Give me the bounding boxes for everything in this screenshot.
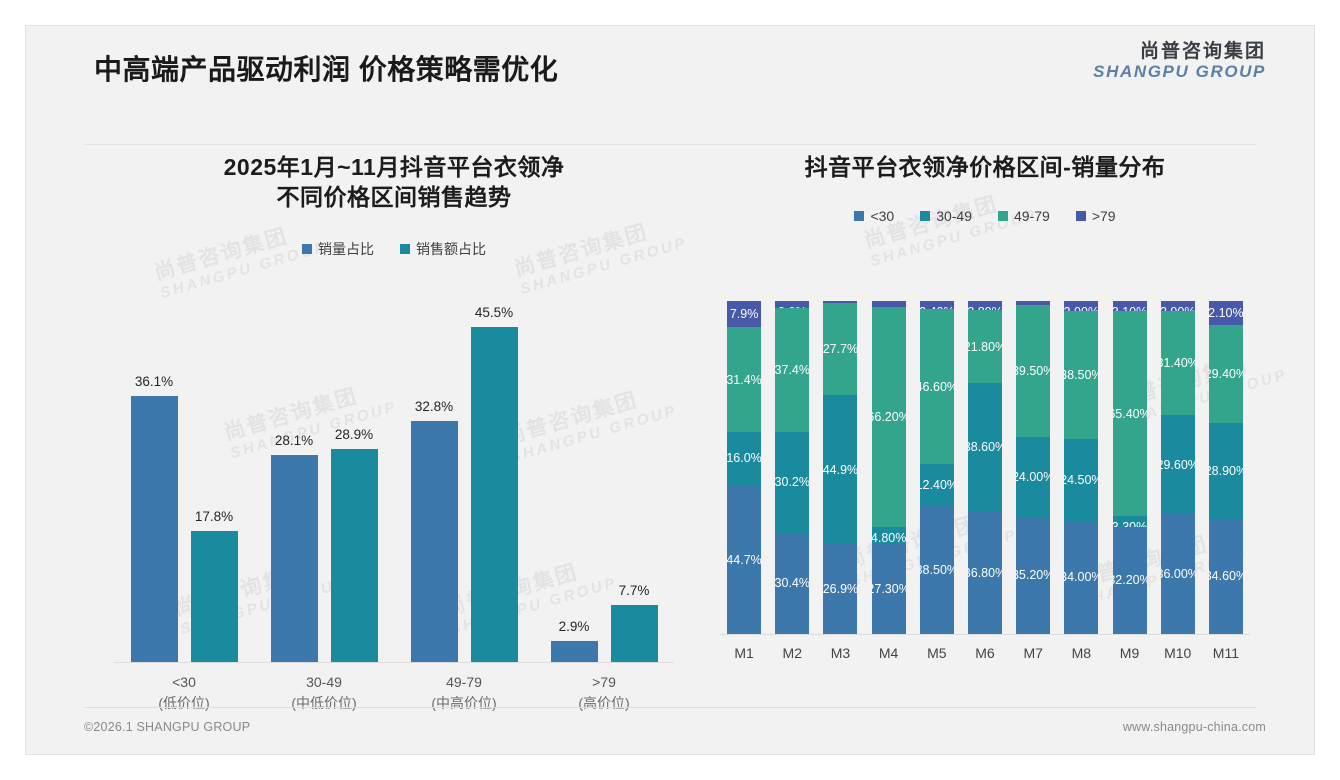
stack-segment-value-label: 66.20%: [872, 410, 906, 424]
stack-segment-value-label: 30.2%: [775, 475, 809, 489]
stack-segment-49to79[interactable]: 21.80%: [968, 310, 1002, 383]
stacked-bar-column[interactable]: 7.9%31.4%16.0%44.7%: [727, 301, 761, 634]
stack-segment-value-label: 29.40%: [1209, 367, 1243, 381]
stack-segment-30[interactable]: 36.00%: [1161, 514, 1195, 634]
x-axis-month-label: M9: [1113, 645, 1147, 661]
right-chart-panel: 抖音平台衣领净价格区间-销量分布 <3030-4949-79>79 7.9%31…: [714, 152, 1256, 712]
left-chart-legend-item[interactable]: 销量占比: [302, 239, 374, 259]
stack-segment-value-label: 44.9%: [823, 463, 857, 477]
stack-segment-79[interactable]: 3.00%: [1064, 301, 1098, 311]
x-axis-month-label: M6: [968, 645, 1002, 661]
x-axis-month-label: M4: [872, 645, 906, 661]
left-chart-title: 2025年1月~11月抖音平台衣领净 不同价格区间销售趋势: [84, 152, 704, 213]
stack-segment-value-label: 32.20%: [1113, 573, 1147, 587]
stack-segment-value-label: 35.20%: [1016, 568, 1050, 582]
left-chart-panel: 2025年1月~11月抖音平台衣领净 不同价格区间销售趋势 销量占比销售额占比 …: [84, 152, 704, 712]
stack-segment-79[interactable]: 2.0%: [775, 301, 809, 308]
bar-value-label: 32.8%: [415, 399, 453, 414]
stacked-bar-column[interactable]: 3.00%38.50%24.50%34.00%: [1064, 301, 1098, 634]
bar-sales-volume[interactable]: 2.9%: [551, 641, 598, 662]
bar-fill: [331, 449, 378, 662]
bar-fill: [611, 605, 658, 662]
stack-segment-value-label: 27.30%: [872, 582, 906, 596]
stack-segment-value-label: 37.4%: [775, 363, 809, 377]
stack-segment-49to79[interactable]: 29.40%: [1209, 325, 1243, 423]
stack-segment-value-label: 24.00%: [1016, 470, 1050, 484]
stack-segment-30to49[interactable]: 30.2%: [775, 432, 809, 533]
bar-group: 36.1%17.8%<30(低价位): [114, 294, 254, 662]
x-axis-month-label: M8: [1064, 645, 1098, 661]
category-name: >79: [592, 674, 616, 690]
category-name: <30: [172, 674, 196, 690]
stacked-bar-column[interactable]: 2.40%46.60%12.40%38.50%: [920, 301, 954, 634]
brand-logo: 尚普咨询集团 SHANGPU GROUP: [1093, 42, 1266, 81]
stack-segment-value-label: 3.30%: [1113, 520, 1147, 527]
stacked-bar-chart: 7.9%31.4%16.0%44.7%M12.0%37.4%30.2%30.4%…: [720, 288, 1250, 663]
stack-segment-value-label: 16.0%: [727, 451, 761, 465]
bar-fill: [471, 327, 518, 662]
bar-fill: [191, 531, 238, 662]
legend-label: 49-79: [1014, 208, 1050, 224]
legend-swatch-icon: [400, 244, 410, 254]
stack-segment-79[interactable]: 7.9%: [727, 301, 761, 327]
stack-segment-49to79[interactable]: 38.50%: [1064, 311, 1098, 439]
stack-segment-30to49[interactable]: 4.80%: [872, 527, 906, 543]
logo-english-text: SHANGPU GROUP: [1093, 63, 1266, 81]
stack-segment-value-label: 65.40%: [1113, 407, 1147, 421]
bar-sales-amount[interactable]: 17.8%: [191, 531, 238, 662]
stack-segment-49to79[interactable]: 39.50%: [1016, 305, 1050, 437]
stack-segment-30[interactable]: 30.4%: [775, 533, 809, 634]
stack-segment-value-label: 34.60%: [1209, 569, 1243, 583]
grouped-bar-chart: 36.1%17.8%<30(低价位)28.1%28.9%30-49(中低价位)3…: [114, 288, 674, 663]
stack-segment-30[interactable]: 34.00%: [1064, 521, 1098, 634]
x-axis-month-label: M10: [1161, 645, 1195, 661]
stack-segment-30[interactable]: 34.60%: [1209, 519, 1243, 634]
right-chart-legend-item[interactable]: <30: [854, 208, 894, 224]
bar-value-label: 45.5%: [475, 305, 513, 320]
stack-segment-49to79[interactable]: 46.60%: [920, 309, 954, 464]
stack-segment-30to49[interactable]: 12.40%: [920, 464, 954, 505]
left-chart-legend-item[interactable]: 销售额占比: [400, 239, 486, 259]
left-chart-title-line1: 2025年1月~11月抖音平台衣领净: [84, 152, 704, 182]
bar-sales-volume[interactable]: 36.1%: [131, 396, 178, 662]
legend-label: 销量占比: [318, 239, 374, 259]
stacked-bar-column[interactable]: 2.10%29.40%28.90%34.60%: [1209, 301, 1243, 634]
bar-fill: [271, 455, 318, 662]
bar-value-label: 36.1%: [135, 374, 173, 389]
legend-label: 销售额占比: [416, 239, 486, 259]
stack-segment-value-label: 38.50%: [1064, 368, 1098, 382]
bar-fill: [551, 641, 598, 662]
stack-segment-30to49[interactable]: 29.60%: [1161, 415, 1195, 514]
left-chart-title-line2: 不同价格区间销售趋势: [84, 182, 704, 212]
stack-segment-value-label: 29.60%: [1161, 458, 1195, 472]
stack-segment-value-label: 39.50%: [1016, 364, 1050, 378]
category-name: 30-49: [306, 674, 342, 690]
x-axis-line: [720, 634, 1250, 635]
bar-fill: [411, 421, 458, 662]
stack-segment-value-label: 21.80%: [968, 340, 1002, 354]
stack-segment-30[interactable]: 36.80%: [968, 511, 1002, 634]
x-axis-month-label: M5: [920, 645, 954, 661]
stack-segment-value-label: 30.4%: [775, 576, 809, 590]
legend-label: 30-49: [936, 208, 972, 224]
stack-segment-49to79[interactable]: 66.20%: [872, 307, 906, 527]
stack-segment-30to49[interactable]: 38.60%: [968, 383, 1002, 512]
stacked-bar-column[interactable]: 1.30%39.50%24.00%35.20%: [1016, 301, 1050, 634]
stacked-bar-column[interactable]: 3.10%65.40%3.30%32.20%: [1113, 301, 1147, 634]
stack-segment-value-label: 38.50%: [920, 563, 954, 577]
legend-label: <30: [870, 208, 894, 224]
right-chart-legend-item[interactable]: 49-79: [998, 208, 1050, 224]
stacked-bar-column[interactable]: 2.90%31.40%29.60%36.00%: [1161, 301, 1195, 634]
stack-segment-value-label: 36.80%: [968, 566, 1002, 580]
category-sublabel: (中低价位): [254, 693, 394, 714]
stack-segment-79[interactable]: 2.80%: [968, 301, 1002, 310]
bar-group: 32.8%45.5%49-79(中高价位): [394, 294, 534, 662]
legend-swatch-icon: [302, 244, 312, 254]
stack-segment-79[interactable]: 2.90%: [1161, 301, 1195, 311]
legend-swatch-icon: [998, 211, 1008, 221]
logo-chinese-text: 尚普咨询集团: [1093, 42, 1266, 63]
category-sublabel: (中高价位): [394, 693, 534, 714]
stack-segment-30[interactable]: 35.20%: [1016, 517, 1050, 634]
category-sublabel: (低价位): [114, 693, 254, 714]
legend-swatch-icon: [920, 211, 930, 221]
page-title: 中高端产品驱动利润 价格策略需优化: [94, 48, 558, 88]
stacked-bar-column[interactable]: 1.70%66.20%4.80%27.30%: [872, 301, 906, 634]
right-chart-legend: <3030-4949-79>79: [714, 208, 1256, 224]
stack-segment-30to49[interactable]: 28.90%: [1209, 423, 1243, 519]
stack-segment-value-label: 4.80%: [872, 531, 906, 543]
x-axis-month-label: M2: [775, 645, 809, 661]
slide-canvas: 中高端产品驱动利润 价格策略需优化 尚普咨询集团 SHANGPU GROUP 尚…: [26, 26, 1314, 754]
footer-copyright: ©2026.1 SHANGPU GROUP: [84, 720, 250, 734]
stack-segment-30[interactable]: 26.9%: [823, 544, 857, 633]
bar-sales-volume[interactable]: 28.1%: [271, 455, 318, 662]
header-divider: [84, 144, 1256, 145]
stack-segment-value-label: 2.10%: [1209, 306, 1243, 320]
stack-segment-value-label: 26.9%: [823, 582, 857, 596]
bar-value-label: 7.7%: [619, 583, 650, 598]
bar-group: 28.1%28.9%30-49(中低价位): [254, 294, 394, 662]
stack-segment-79[interactable]: 2.40%: [920, 301, 954, 309]
stack-segment-value-label: 38.60%: [968, 440, 1002, 454]
stack-segment-30[interactable]: 32.20%: [1113, 527, 1147, 634]
stack-segment-value-label: 24.50%: [1064, 473, 1098, 487]
right-chart-legend-item[interactable]: >79: [1076, 208, 1116, 224]
category-name: 49-79: [446, 674, 482, 690]
bar-sales-volume[interactable]: 32.8%: [411, 421, 458, 662]
stacked-bar-column[interactable]: 2.0%37.4%30.2%30.4%: [775, 301, 809, 634]
stack-segment-value-label: 44.7%: [727, 553, 761, 567]
right-chart-legend-item[interactable]: 30-49: [920, 208, 972, 224]
stack-segment-value-label: 7.9%: [730, 307, 759, 321]
legend-label: >79: [1092, 208, 1116, 224]
stack-segment-30to49[interactable]: 16.0%: [727, 432, 761, 485]
left-chart-legend: 销量占比销售额占比: [84, 239, 704, 259]
footer-website: www.shangpu-china.com: [1123, 720, 1266, 734]
stack-segment-30to49[interactable]: 24.00%: [1016, 437, 1050, 517]
x-axis-month-label: M11: [1209, 645, 1243, 661]
stack-segment-value-label: 36.00%: [1161, 567, 1195, 581]
x-axis-month-label: M1: [727, 645, 761, 661]
bar-value-label: 28.1%: [275, 433, 313, 448]
bar-value-label: 28.9%: [335, 427, 373, 442]
x-axis-month-label: M7: [1016, 645, 1050, 661]
stacked-bar-column[interactable]: 0.6%27.7%44.9%26.9%: [823, 301, 857, 634]
stack-segment-30[interactable]: 44.7%: [727, 485, 761, 634]
stack-segment-49to79[interactable]: 37.4%: [775, 308, 809, 433]
stack-segment-value-label: 27.7%: [823, 342, 857, 356]
stack-segment-value-label: 34.00%: [1064, 570, 1098, 584]
bar-value-label: 17.8%: [195, 509, 233, 524]
footer-divider: [84, 707, 1256, 708]
stack-segment-30to49[interactable]: 24.50%: [1064, 439, 1098, 521]
bar-sales-amount[interactable]: 7.7%: [611, 605, 658, 662]
stack-segment-49to79[interactable]: 65.40%: [1113, 311, 1147, 515]
slide-header: 中高端产品驱动利润 价格策略需优化 尚普咨询集团 SHANGPU GROUP: [26, 26, 1314, 112]
stack-segment-79[interactable]: 3.10%: [1113, 301, 1147, 311]
category-sublabel: (高价位): [534, 693, 674, 714]
bar-fill: [131, 396, 178, 662]
stack-segment-49to79[interactable]: 31.4%: [727, 327, 761, 432]
legend-swatch-icon: [1076, 211, 1086, 221]
stack-segment-value-label: 31.4%: [727, 373, 761, 387]
stack-segment-49to79[interactable]: 27.7%: [823, 303, 857, 395]
x-axis-line: [114, 662, 674, 663]
stack-segment-30[interactable]: 27.30%: [872, 543, 906, 634]
stacked-bar-column[interactable]: 2.80%21.80%38.60%36.80%: [968, 301, 1002, 634]
legend-swatch-icon: [854, 211, 864, 221]
stack-segment-30[interactable]: 38.50%: [920, 506, 954, 634]
bar-value-label: 2.9%: [559, 619, 590, 634]
stack-segment-30to49[interactable]: 44.9%: [823, 395, 857, 544]
stack-segment-value-label: 46.60%: [920, 380, 954, 394]
stack-segment-49to79[interactable]: 31.40%: [1161, 311, 1195, 416]
x-axis-month-label: M3: [823, 645, 857, 661]
stack-segment-30to49[interactable]: 3.30%: [1113, 516, 1147, 527]
stack-segment-value-label: 12.40%: [920, 478, 954, 492]
stack-segment-value-label: 28.90%: [1209, 464, 1243, 478]
right-chart-title: 抖音平台衣领净价格区间-销量分布: [714, 152, 1256, 182]
bar-sales-amount[interactable]: 45.5%: [471, 327, 518, 662]
stack-segment-79[interactable]: 2.10%: [1209, 301, 1243, 325]
bar-group: 2.9%7.7%>79(高价位): [534, 294, 674, 662]
bar-sales-amount[interactable]: 28.9%: [331, 449, 378, 662]
stack-segment-value-label: 31.40%: [1161, 356, 1195, 370]
